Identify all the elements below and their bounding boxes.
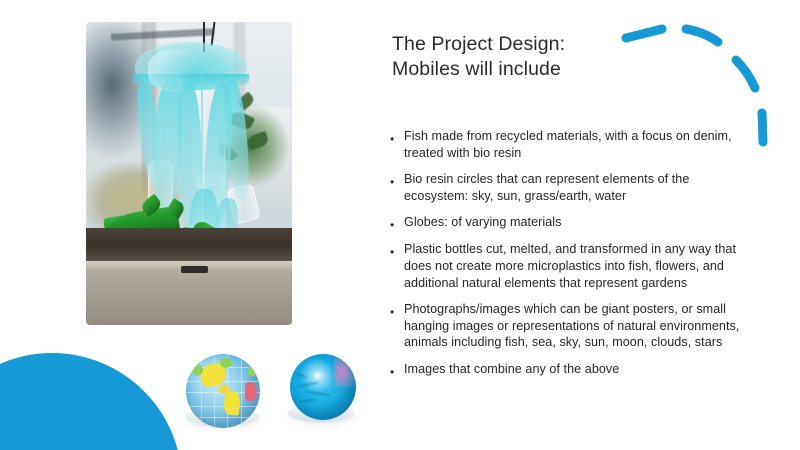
bullet-dot-icon: • — [390, 171, 404, 188]
globe-grid-v4 — [241, 354, 242, 428]
blue-corner-circle — [0, 353, 182, 450]
bullet-dot-icon: • — [390, 241, 404, 258]
photo-planter-box — [86, 228, 292, 261]
list-item-text: Images that combine any of the above — [404, 361, 750, 378]
globe-blue — [290, 354, 356, 420]
globe-multicolor — [186, 354, 260, 428]
page-title: The Project Design: Mobiles will include — [392, 32, 722, 82]
globe-right-marking-1 — [296, 381, 319, 389]
globe-grid-h5 — [186, 417, 260, 418]
jellyfish-mobile-photo — [86, 22, 292, 325]
photo-ledge-bolt — [181, 266, 208, 273]
photo-strand-4 — [218, 70, 220, 203]
bullet-dot-icon: • — [390, 301, 404, 318]
bullet-dot-icon: • — [390, 361, 404, 378]
list-item: • Plastic bottles cut, melted, and trans… — [390, 241, 750, 291]
globe-continent-africa-edge — [245, 382, 257, 401]
photo-plastic-sheen — [148, 49, 218, 91]
list-item: • Bio resin circles that can represent e… — [390, 171, 750, 204]
photo-content — [86, 22, 292, 325]
list-item: • Fish made from recycled materials, wit… — [390, 128, 750, 161]
list-item-text: Plastic bottles cut, melted, and transfo… — [404, 241, 750, 291]
list-item: • Globes: of varying materials — [390, 214, 750, 231]
list-item-text: Photographs/images which can be giant po… — [404, 301, 750, 351]
globe-right-marking-4 — [295, 372, 307, 378]
bullet-list: • Fish made from recycled materials, wit… — [390, 128, 750, 388]
arc-segment-4 — [762, 113, 763, 142]
globe-right-marking-3 — [299, 398, 316, 402]
list-item-text: Bio resin circles that can represent ele… — [404, 171, 750, 204]
list-item: • Photographs/images which can be giant … — [390, 301, 750, 351]
globe-right-marking-2 — [304, 390, 330, 396]
bullet-dot-icon: • — [390, 128, 404, 145]
list-item-text: Fish made from recycled materials, with … — [404, 128, 750, 161]
globe-continent-europe-edge — [248, 366, 258, 376]
photo-strand-5 — [150, 74, 152, 183]
globe-right-pink-highlight — [334, 354, 356, 387]
arc-segment-3 — [736, 60, 755, 88]
globe-continent-greenland — [220, 358, 232, 368]
slide-canvas: The Project Design: Mobiles will include… — [0, 0, 800, 450]
list-item: • Images that combine any of the above — [390, 361, 750, 378]
list-item-text: Globes: of varying materials — [404, 214, 750, 231]
globe-continent-south-america — [223, 390, 242, 415]
bullet-dot-icon: • — [390, 214, 404, 231]
